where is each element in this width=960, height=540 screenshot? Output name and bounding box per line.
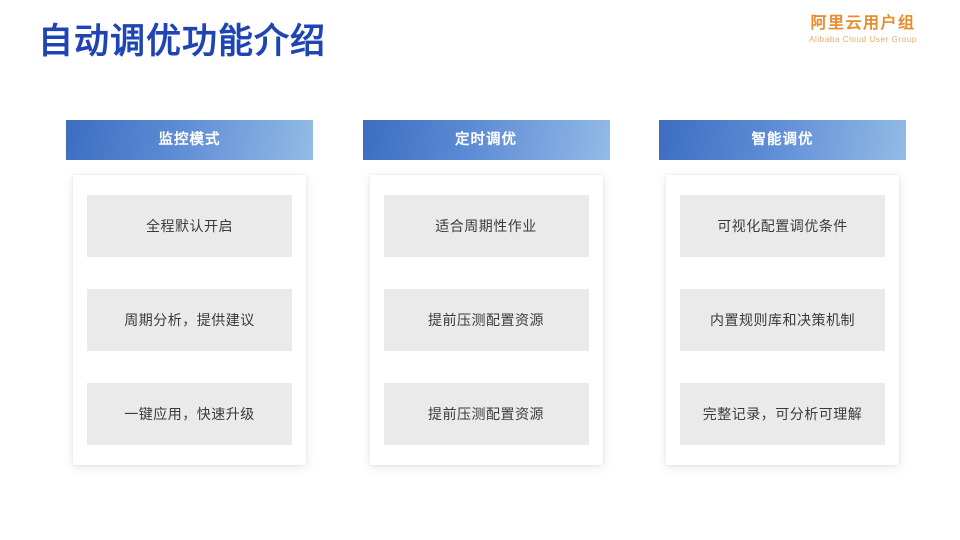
brand-logo: 阿里云用户组 Alibaba Cloud User Group [788,14,938,46]
column-card-monitoring: 全程默认开启 周期分析，提供建议 一键应用，快速升级 [73,175,306,465]
column-card-intelligent: 可视化配置调优条件 内置规则库和决策机制 完整记录，可分析可理解 [666,175,899,465]
feature-column-intelligent: 智能调优 可视化配置调优条件 内置规则库和决策机制 完整记录，可分析可理解 [659,120,906,465]
list-item: 周期分析，提供建议 [87,289,292,351]
brand-name-en: Alibaba Cloud User Group [788,34,938,46]
list-item: 提前压测配置资源 [384,383,589,445]
list-item: 内置规则库和决策机制 [680,289,885,351]
page-title: 自动调优功能介绍 [38,20,326,64]
column-header-intelligent: 智能调优 [659,120,906,160]
list-item: 完整记录，可分析可理解 [680,383,885,445]
feature-column-monitoring: 监控模式 全程默认开启 周期分析，提供建议 一键应用，快速升级 [66,120,313,465]
slide-canvas: 自动调优功能介绍 阿里云用户组 Alibaba Cloud User Group… [0,0,960,540]
column-header-scheduled: 定时调优 [363,120,610,160]
list-item: 一键应用，快速升级 [87,383,292,445]
brand-name-cn: 阿里云用户组 [788,14,938,33]
feature-column-scheduled: 定时调优 适合周期性作业 提前压测配置资源 提前压测配置资源 [363,120,610,465]
feature-columns: 监控模式 全程默认开启 周期分析，提供建议 一键应用，快速升级 定时调优 适合周… [66,120,906,465]
list-item: 适合周期性作业 [384,195,589,257]
column-header-monitoring: 监控模式 [66,120,313,160]
column-card-scheduled: 适合周期性作业 提前压测配置资源 提前压测配置资源 [370,175,603,465]
list-item: 可视化配置调优条件 [680,195,885,257]
list-item: 全程默认开启 [87,195,292,257]
list-item: 提前压测配置资源 [384,289,589,351]
